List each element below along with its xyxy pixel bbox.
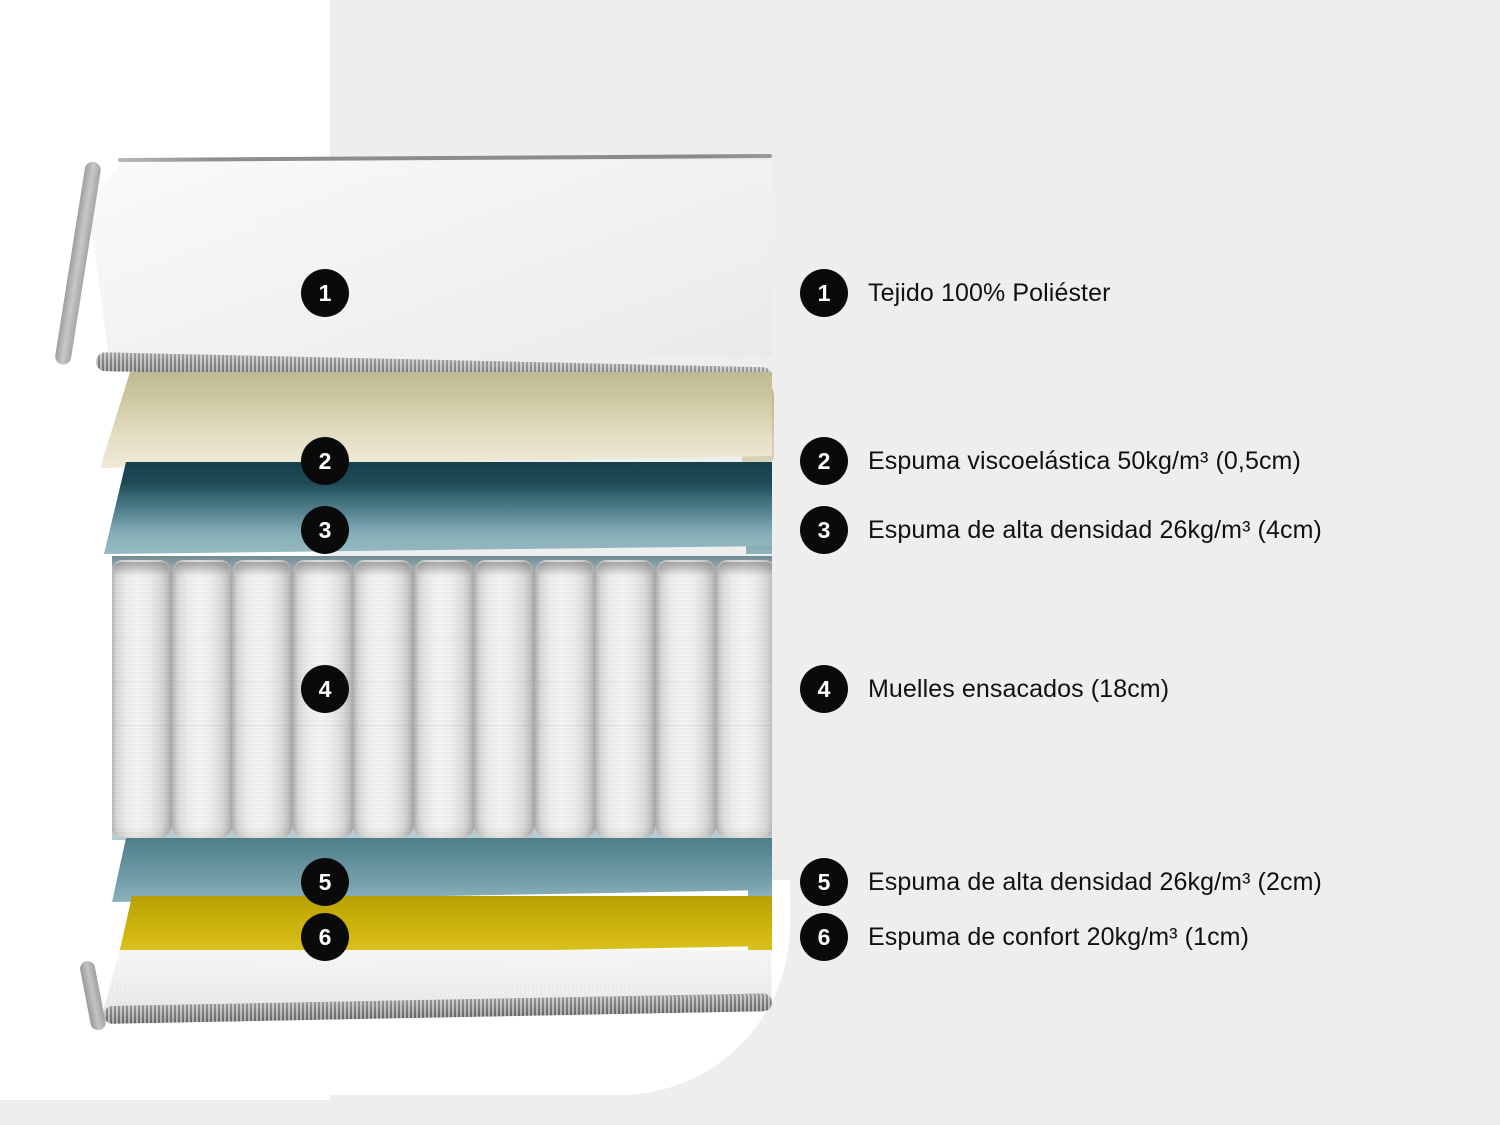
legend-item-6[interactable]: 6 Espuma de confort 20kg/m³ (1cm)	[800, 913, 1249, 961]
legend-label-3: Espuma de alta densidad 26kg/m³ (4cm)	[868, 516, 1322, 545]
legend-label-6: Espuma de confort 20kg/m³ (1cm)	[868, 923, 1249, 952]
legend-label-4: Muelles ensacados (18cm)	[868, 675, 1169, 704]
legend-badge-3-number: 3	[818, 519, 831, 542]
legend-badge-5: 5	[800, 858, 848, 906]
legend-badge-1: 1	[800, 269, 848, 317]
legend-badge-2-number: 2	[818, 450, 831, 473]
legend-badge-2: 2	[800, 437, 848, 485]
legend-badge-5-number: 5	[818, 871, 831, 894]
legend-item-4[interactable]: 4 Muelles ensacados (18cm)	[800, 665, 1169, 713]
legend-badge-3: 3	[800, 506, 848, 554]
legend-label-1: Tejido 100% Poliéster	[868, 279, 1111, 308]
legend-item-1[interactable]: 1 Tejido 100% Poliéster	[800, 269, 1111, 317]
legend-badge-4: 4	[800, 665, 848, 713]
legend-badge-6-number: 6	[818, 926, 831, 949]
legend-list: 1 Tejido 100% Poliéster 2 Espuma viscoel…	[0, 0, 1500, 1125]
legend-label-2: Espuma viscoelástica 50kg/m³ (0,5cm)	[868, 447, 1301, 476]
mattress-layers-infographic: 1 2 3 4 5 6 1 Tejido 100% Poliéster 2 Es…	[0, 0, 1500, 1125]
legend-label-5: Espuma de alta densidad 26kg/m³ (2cm)	[868, 868, 1322, 897]
legend-item-5[interactable]: 5 Espuma de alta densidad 26kg/m³ (2cm)	[800, 858, 1322, 906]
legend-badge-4-number: 4	[818, 678, 831, 701]
legend-item-2[interactable]: 2 Espuma viscoelástica 50kg/m³ (0,5cm)	[800, 437, 1301, 485]
legend-badge-6: 6	[800, 913, 848, 961]
legend-badge-1-number: 1	[818, 282, 831, 305]
legend-item-3[interactable]: 3 Espuma de alta densidad 26kg/m³ (4cm)	[800, 506, 1322, 554]
